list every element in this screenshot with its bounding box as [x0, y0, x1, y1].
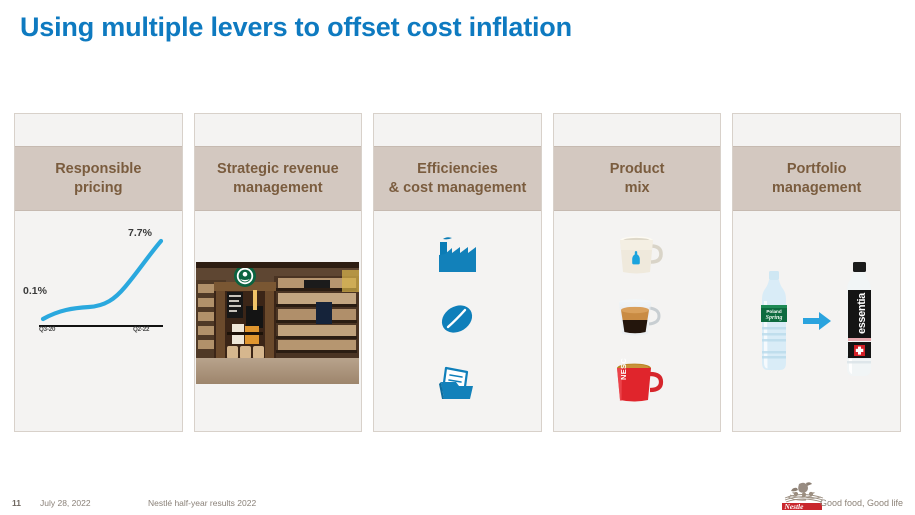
- svg-text:essentia: essentia: [856, 292, 868, 334]
- nespresso-glass: [607, 296, 667, 340]
- poland-spring-bottle: Poland Spring: [752, 267, 796, 375]
- panel-header-strategic-revenue-management: Strategic revenue management: [195, 146, 362, 211]
- panel-body-responsible-pricing: 0.1% 7.7% Q3-20 Q2-22: [15, 211, 182, 431]
- panel-header-responsible-pricing: Responsible pricing: [15, 146, 182, 211]
- panel-header-line2: mix: [625, 180, 650, 196]
- panel-header-line2: management: [233, 180, 322, 196]
- nescafe-red-mug: NESCAFÉ: [605, 358, 669, 406]
- panel-header-line1: Product: [610, 161, 665, 177]
- blue-bottle-mug: [607, 232, 667, 278]
- panel-body-efficiencies-cost-management: [374, 211, 541, 431]
- store-photo-svg: [196, 262, 359, 384]
- svg-text:Poland: Poland: [766, 309, 782, 314]
- panel-header-line2: & cost management: [389, 180, 527, 196]
- panel-top-strip: [15, 114, 182, 146]
- panel-body-product-mix: NESCAFÉ: [554, 211, 721, 431]
- panel-body-strategic-revenue-management: [195, 211, 362, 431]
- panel-body-portfolio-management: Poland Spring: [733, 211, 900, 431]
- product-mug-stack: NESCAFÉ: [605, 211, 669, 431]
- panel-header-line1: Strategic revenue: [217, 161, 339, 177]
- page-title: Using multiple levers to offset cost inf…: [20, 12, 572, 43]
- footer-date: July 28, 2022: [40, 498, 91, 508]
- chart-line-series: [43, 241, 161, 319]
- panel-header-portfolio-management: Portfolio management: [733, 146, 900, 211]
- efficiency-icon-stack: [434, 211, 480, 431]
- chart-xtick-start: Q3-20: [39, 326, 55, 333]
- portfolio-bottle-row: Poland Spring: [752, 211, 882, 431]
- pricing-line-chart: 0.1% 7.7% Q3-20 Q2-22: [15, 211, 182, 431]
- slide-footer: 11 July 28, 2022 Nestlé half-year result…: [0, 498, 915, 515]
- nestle-wordmark: Nestle: [784, 502, 805, 510]
- chart-annotation-end: 7.7%: [128, 227, 152, 239]
- nestle-tagline: Good food, Good life: [820, 498, 903, 508]
- panel-header-line1: Portfolio: [787, 161, 847, 177]
- panel-responsible-pricing[interactable]: Responsible pricing 0.1% 7.7% Q3-20 Q2-2…: [14, 113, 183, 432]
- starbucks-store-photo: [196, 262, 359, 384]
- panel-top-strip: [733, 114, 900, 146]
- panel-header-line2: management: [772, 180, 861, 196]
- panel-strategic-revenue-management[interactable]: Strategic revenue management: [194, 113, 363, 432]
- nestle-logo: Nestle Good food, Good life: [782, 480, 907, 512]
- svg-text:Spring: Spring: [765, 315, 782, 321]
- factory-icon: [434, 234, 480, 276]
- panel-product-mix[interactable]: Product mix: [553, 113, 722, 432]
- levers-panel-row: Responsible pricing 0.1% 7.7% Q3-20 Q2-2…: [14, 113, 901, 432]
- panel-header-line1: Efficiencies: [417, 161, 498, 177]
- panel-header-line2: pricing: [74, 180, 122, 196]
- panel-efficiencies-cost-management[interactable]: Efficiencies & cost management: [373, 113, 542, 432]
- panel-header-line1: Responsible: [55, 161, 141, 177]
- arrow-right-icon: [802, 309, 832, 333]
- nescafe-wordmark: NESCAFÉ: [619, 358, 628, 380]
- panel-portfolio-management[interactable]: Portfolio management: [732, 113, 901, 432]
- panel-top-strip: [195, 114, 362, 146]
- essentia-bottle: essentia: [838, 260, 882, 382]
- panel-header-efficiencies-cost-management: Efficiencies & cost management: [374, 146, 541, 211]
- documents-folder-icon: [434, 362, 480, 404]
- panel-header-product-mix: Product mix: [554, 146, 721, 211]
- coffee-bean-icon: [434, 298, 480, 340]
- footer-page-number: 11: [12, 498, 21, 508]
- chart-annotation-start: 0.1%: [23, 285, 47, 297]
- chart-xtick-end: Q2-22: [133, 326, 149, 333]
- panel-top-strip: [374, 114, 541, 146]
- panel-top-strip: [554, 114, 721, 146]
- footer-deck-title: Nestlé half-year results 2022: [148, 498, 256, 508]
